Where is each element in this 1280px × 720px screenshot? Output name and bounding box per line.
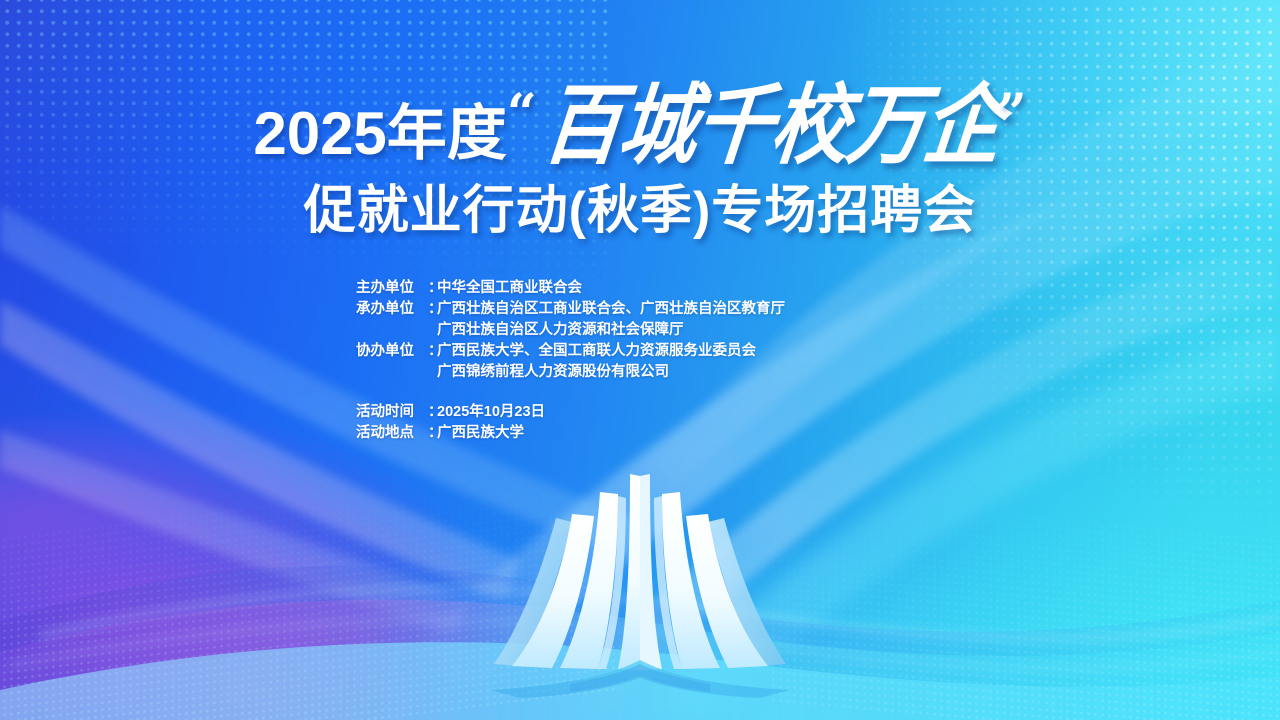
event-place-line: 活动地点 ： 广西民族大学 bbox=[356, 423, 916, 444]
coorganizer-label: 协办单位 bbox=[356, 341, 428, 362]
host-colon: ： bbox=[428, 299, 437, 320]
host-value-line2: 广西壮族自治区人力资源和社会保障厅 bbox=[437, 322, 684, 338]
organizer-value: 中华全国工商业联合会 bbox=[437, 278, 916, 299]
event-poster: 2025年度 “ 百城千校万企 ” 促就业行动(秋季)专场招聘会 主办单位 ： … bbox=[0, 0, 1280, 720]
main-title: 2025年度 “ 百城千校万企 ” bbox=[253, 72, 1026, 168]
event-time-value: 2025年10月23日 bbox=[437, 402, 916, 423]
organizer-colon: ： bbox=[428, 278, 437, 299]
event-place-colon: ： bbox=[428, 423, 437, 444]
event-place-value: 广西民族大学 bbox=[437, 423, 916, 444]
title-year: 2025年度 bbox=[253, 104, 506, 164]
poster-content: 2025年度 “ 百城千校万企 ” 促就业行动(秋季)专场招聘会 主办单位 ： … bbox=[0, 0, 1280, 720]
info-spacer bbox=[356, 383, 916, 402]
event-time-label: 活动时间 bbox=[356, 402, 428, 423]
quote-close-mark: ” bbox=[997, 88, 1027, 140]
organizer-line: 主办单位 ： 中华全国工商业联合会 bbox=[356, 278, 916, 299]
title-brush-phrase: 百城千校万企 bbox=[539, 83, 1004, 170]
quote-open-mark: “ bbox=[507, 88, 537, 140]
event-info-block: 主办单位 ： 中华全国工商业联合会 承办单位 ： 广西壮族自治区工商业联合会、广… bbox=[356, 278, 916, 444]
host-label: 承办单位 bbox=[356, 299, 428, 320]
host-line: 承办单位 ： 广西壮族自治区工商业联合会、广西壮族自治区教育厅 bbox=[356, 299, 916, 320]
coorganizer-value-line2-wrap: 广西锦绣前程人力资源股份有限公司 bbox=[356, 362, 916, 383]
subtitle: 促就业行动(秋季)专场招聘会 bbox=[304, 182, 977, 240]
event-time-line: 活动时间 ： 2025年10月23日 bbox=[356, 402, 916, 423]
host-value-line2-wrap: 广西壮族自治区人力资源和社会保障厅 bbox=[356, 320, 916, 341]
event-time-colon: ： bbox=[428, 402, 437, 423]
organizer-label: 主办单位 bbox=[356, 278, 428, 299]
coorganizer-value-line1: 广西民族大学、全国工商联人力资源服务业委员会 bbox=[437, 341, 916, 362]
coorganizer-value-line2: 广西锦绣前程人力资源股份有限公司 bbox=[437, 364, 669, 380]
coorganizer-line: 协办单位 ： 广西民族大学、全国工商联人力资源服务业委员会 bbox=[356, 341, 916, 362]
coorganizer-colon: ： bbox=[428, 341, 437, 362]
event-place-label: 活动地点 bbox=[356, 423, 428, 444]
host-value-line1: 广西壮族自治区工商业联合会、广西壮族自治区教育厅 bbox=[437, 299, 916, 320]
